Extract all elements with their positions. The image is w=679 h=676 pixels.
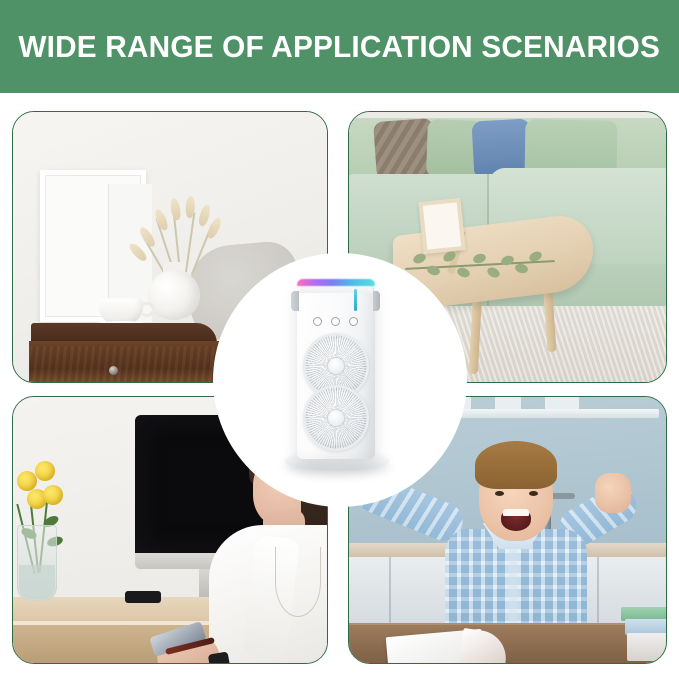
boy-hair [475, 441, 557, 489]
cabinet-seam [597, 557, 599, 631]
book-stack-white [627, 633, 667, 661]
vase-water [19, 565, 55, 599]
eye-left [495, 491, 504, 496]
yellow-rose [43, 485, 63, 505]
eyebrow-left [492, 483, 507, 486]
eye-right [529, 491, 538, 496]
desk-device [125, 591, 161, 603]
fan-grille-icon-lower [303, 385, 369, 451]
product-image-portable-fan[interactable] [265, 275, 415, 490]
shirt-placket [509, 543, 517, 635]
power-button-icon[interactable] [313, 317, 322, 326]
teeth [503, 509, 529, 516]
promo-banner: WIDE RANGE OF APPLICATION SCENARIOS [0, 0, 679, 676]
banner-header: WIDE RANGE OF APPLICATION SCENARIOS [0, 0, 679, 93]
wristwatch [208, 651, 230, 664]
drawer-knob [109, 366, 118, 375]
yellow-rose [17, 471, 37, 491]
eyebrow-right [526, 483, 541, 486]
status-indicator-light [354, 289, 357, 311]
wood-grain-texture [29, 346, 219, 383]
page-title: WIDE RANGE OF APPLICATION SCENARIOS [19, 29, 661, 65]
ceramic-vase [148, 270, 200, 320]
yellow-rose [35, 461, 55, 481]
small-photo-frame [418, 198, 465, 254]
fan-side-tab-left [291, 291, 299, 311]
boy-raised-fist [595, 473, 631, 513]
mist-button-icon[interactable] [349, 317, 358, 326]
necklace [275, 547, 321, 617]
speed-button-icon[interactable] [331, 317, 340, 326]
rgb-led-strip-icon [297, 279, 375, 286]
cabinet-seam [389, 557, 391, 631]
fan-side-tab-right [373, 291, 380, 311]
cup-handle [139, 302, 155, 317]
